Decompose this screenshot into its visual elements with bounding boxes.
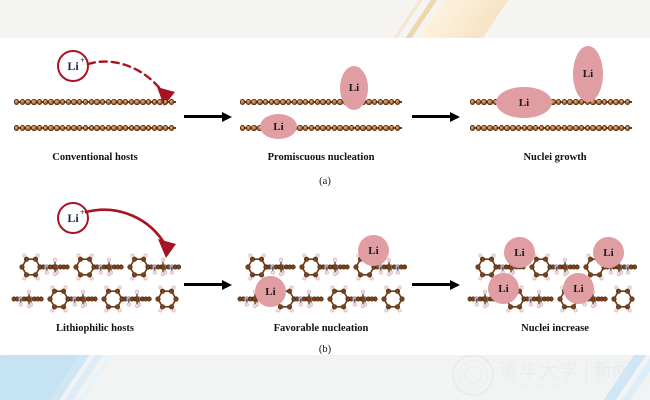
atom-H	[520, 309, 523, 312]
chain-bead	[349, 125, 354, 130]
chain-bead	[378, 99, 383, 104]
atom-C	[115, 304, 120, 309]
atom-H	[144, 277, 147, 280]
atom-C	[367, 272, 372, 277]
chain-bead	[100, 99, 105, 104]
atom-C	[61, 304, 66, 309]
chain-bead	[140, 99, 145, 104]
atom-H	[53, 272, 57, 276]
atom-C	[386, 304, 391, 309]
chain-bead	[383, 99, 388, 104]
atom-C	[313, 272, 318, 277]
atom-C	[160, 304, 165, 309]
atom-C	[135, 297, 140, 302]
atom-C	[106, 304, 111, 309]
ion-label-b: Li	[67, 211, 78, 225]
atom-C	[480, 272, 485, 277]
atom-C	[304, 257, 309, 262]
atom-C	[597, 272, 602, 277]
chain-bead	[140, 125, 145, 130]
atom-H	[53, 258, 57, 262]
chain-bead	[309, 99, 314, 104]
chain-bead	[573, 125, 578, 130]
panel-b: Li+ L	[0, 198, 650, 355]
atom-H	[483, 304, 487, 308]
chain-bead	[562, 125, 567, 130]
chain-bead	[66, 99, 71, 104]
atom-C	[603, 297, 607, 301]
atom-C	[33, 272, 38, 277]
chain-bead	[123, 99, 128, 104]
atom-C	[508, 304, 513, 309]
chain-bead	[37, 125, 42, 130]
atom-H	[107, 272, 111, 276]
atom-H	[628, 286, 631, 289]
chain-bead	[332, 125, 337, 130]
chain-bead	[263, 99, 268, 104]
atom-H	[271, 271, 274, 274]
chain-bead	[366, 125, 371, 130]
atom-H	[361, 290, 365, 294]
atom-H	[90, 254, 93, 257]
atom-H	[135, 304, 139, 308]
atom-H	[172, 309, 175, 312]
atom-C	[386, 289, 391, 294]
atom-H	[105, 309, 108, 312]
chain-bead	[94, 125, 99, 130]
atom-H	[73, 303, 76, 306]
chain-bead	[360, 125, 365, 130]
atom-C	[382, 297, 387, 302]
chain-bead	[539, 125, 544, 130]
atom-C	[395, 289, 400, 294]
atom-C	[87, 272, 92, 277]
chain-bead	[54, 99, 59, 104]
chain-bead	[134, 125, 139, 130]
chain-bead	[14, 99, 19, 104]
chain-bead	[303, 99, 308, 104]
atom-C	[332, 304, 337, 309]
host-chain-a1-bottom	[14, 124, 176, 132]
atom-C	[341, 289, 346, 294]
chain-bead	[602, 99, 607, 104]
chain-bead	[608, 99, 613, 104]
chain-bead	[297, 125, 302, 130]
atom-H	[144, 254, 147, 257]
atom-C	[24, 272, 29, 277]
atom-C	[549, 297, 553, 301]
chain-bead	[20, 125, 25, 130]
chain-bead	[134, 99, 139, 104]
chain-bead	[106, 125, 111, 130]
chain-bead	[14, 125, 19, 130]
chain-bead	[510, 125, 515, 130]
atom-H	[546, 254, 549, 257]
chain-bead	[326, 99, 331, 104]
atom-H	[507, 309, 510, 312]
chain-bead	[625, 125, 630, 130]
atom-C	[128, 265, 133, 270]
chain-bead	[163, 125, 168, 130]
atom-C	[169, 289, 174, 294]
atom-H	[290, 286, 293, 289]
chain-bead	[286, 99, 291, 104]
atom-H	[537, 304, 541, 308]
chain-bead	[337, 125, 342, 130]
chain-bead	[71, 125, 76, 130]
panel-a: Li+ Li Li	[0, 38, 650, 188]
atom-H	[561, 309, 564, 312]
atom-H	[385, 309, 388, 312]
atom-H	[159, 286, 162, 289]
chain-bead	[481, 125, 486, 130]
atom-H	[161, 272, 165, 276]
chain-bead	[280, 99, 285, 104]
atom-C	[373, 297, 377, 301]
chain-bead	[83, 99, 88, 104]
atom-H	[353, 303, 356, 306]
chain-bead	[37, 99, 42, 104]
atom-C	[537, 297, 542, 302]
atom-C	[534, 257, 539, 262]
decorative-stripes-top-right	[350, 0, 650, 40]
chain-bead	[83, 125, 88, 130]
chain-bead	[389, 99, 394, 104]
atom-H	[533, 277, 536, 280]
atom-C	[160, 289, 165, 294]
atom-H	[23, 254, 26, 257]
atom-H	[249, 254, 252, 257]
atom-H	[520, 286, 523, 289]
atom-C	[74, 265, 79, 270]
atom-C	[102, 297, 107, 302]
atom-C	[612, 297, 617, 302]
li-nucleus-a3-1: Li	[496, 87, 552, 118]
atom-C	[395, 304, 400, 309]
chain-bead	[274, 99, 279, 104]
chain-bead	[117, 99, 122, 104]
atom-H	[398, 309, 401, 312]
chain-bead	[567, 99, 572, 104]
chain-bead	[320, 99, 325, 104]
chain-bead	[383, 125, 388, 130]
chain-bead	[240, 99, 245, 104]
atom-C	[250, 257, 255, 262]
atom-H	[81, 304, 85, 308]
chain-bead	[106, 99, 111, 104]
atom-C	[132, 272, 137, 277]
atom-H	[587, 254, 590, 257]
dashed-red-arrow-a	[84, 54, 194, 116]
stage-label-b3: Nuclei increase	[460, 323, 650, 334]
chain-bead	[129, 125, 134, 130]
atom-H	[27, 290, 31, 294]
atom-C	[107, 265, 112, 270]
atom-H	[249, 277, 252, 280]
atom-C	[632, 265, 636, 269]
chain-bead	[303, 125, 308, 130]
atom-C	[591, 297, 596, 302]
atom-C	[119, 265, 123, 269]
atom-H	[479, 277, 482, 280]
atom-C	[174, 297, 179, 302]
chain-bead	[315, 99, 320, 104]
atom-H	[537, 290, 541, 294]
stage-label-a3: Nuclei growth	[460, 152, 650, 163]
atom-H	[307, 290, 311, 294]
atom-C	[87, 257, 92, 262]
atom-C	[141, 257, 146, 262]
chain-bead	[613, 125, 618, 130]
li-nucleus-b3-2: Li	[593, 237, 624, 268]
figure-card: Li+ Li Li	[0, 38, 650, 355]
atom-C	[278, 304, 283, 309]
atom-C	[543, 257, 548, 262]
chain-bead	[476, 125, 481, 130]
atom-C	[584, 265, 589, 270]
chain-bead	[43, 125, 48, 130]
atom-H	[105, 286, 108, 289]
atom-H	[303, 254, 306, 257]
atom-H	[279, 258, 283, 262]
decorative-stripes-bottom-right	[530, 348, 650, 400]
chain-bead	[246, 125, 251, 130]
li-nucleus-a3-2: Li	[573, 46, 603, 102]
chain-bead	[332, 99, 337, 104]
atom-H	[316, 277, 319, 280]
chain-bead	[251, 99, 256, 104]
chain-bead	[619, 99, 624, 104]
li-nucleus-a2-1: Li	[260, 114, 297, 139]
screenshot-canvas: 清华大学 Tsinghua University 新闻 NEWS Li+	[0, 0, 650, 400]
atom-H	[325, 271, 328, 274]
atom-H	[170, 271, 173, 274]
atom-H	[574, 309, 577, 312]
chain-bead	[163, 99, 168, 104]
li-nucleus-b2-2: Li	[358, 235, 389, 266]
atom-C	[27, 297, 32, 302]
panel-caption-b: (b)	[295, 344, 355, 355]
atom-H	[396, 271, 399, 274]
atom-H	[45, 271, 48, 274]
chain-bead	[372, 99, 377, 104]
chain-bead	[527, 125, 532, 130]
atom-H	[379, 271, 382, 274]
chain-bead	[169, 125, 174, 130]
atom-C	[147, 297, 151, 301]
chain-bead	[590, 125, 595, 130]
atom-H	[127, 303, 130, 306]
chain-bead	[269, 99, 274, 104]
chain-bead	[309, 125, 314, 130]
atom-H	[99, 271, 102, 274]
atom-H	[600, 277, 603, 280]
process-arrow-a2	[412, 112, 460, 121]
chain-bead	[545, 125, 550, 130]
chain-bead	[257, 99, 262, 104]
atom-C	[132, 257, 137, 262]
atom-H	[344, 309, 347, 312]
stage-label-a2: Promiscuous nucleation	[226, 152, 416, 163]
host-chain-a1-top	[14, 98, 176, 106]
atom-H	[615, 286, 618, 289]
atom-C	[480, 257, 485, 262]
atom-C	[575, 265, 579, 269]
atom-H	[153, 271, 156, 274]
atom-H	[36, 254, 39, 257]
chain-bead	[111, 99, 116, 104]
chain-bead	[602, 125, 607, 130]
atom-C	[48, 297, 53, 302]
chain-bead	[89, 99, 94, 104]
atom-C	[402, 265, 406, 269]
atom-C	[534, 272, 539, 277]
chain-bead	[619, 125, 624, 130]
atom-C	[307, 297, 312, 302]
atom-C	[61, 289, 66, 294]
atom-C	[33, 257, 38, 262]
chain-bead	[579, 125, 584, 130]
process-arrow-b2	[412, 280, 460, 289]
chain-bead	[240, 125, 245, 130]
stage-label-b2: Favorable nucleation	[226, 323, 416, 334]
chain-bead	[117, 125, 122, 130]
atom-C	[400, 297, 405, 302]
chain-bead	[499, 125, 504, 130]
atom-C	[319, 297, 323, 301]
atom-H	[626, 271, 629, 274]
atom-C	[304, 272, 309, 277]
atom-H	[529, 303, 532, 306]
host-chain-a2-top	[240, 98, 402, 106]
chain-bead	[550, 125, 555, 130]
cof-framework-b1	[14, 253, 184, 315]
atom-H	[316, 254, 319, 257]
atom-H	[27, 304, 31, 308]
atom-H	[107, 258, 111, 262]
chain-bead	[625, 99, 630, 104]
chain-bead	[71, 99, 76, 104]
chain-bead	[60, 99, 65, 104]
atom-H	[617, 272, 621, 276]
atom-C	[625, 304, 630, 309]
chain-bead	[585, 125, 590, 130]
atom-C	[81, 297, 86, 302]
atom-H	[279, 272, 283, 276]
atom-C	[361, 297, 366, 302]
atom-C	[387, 265, 392, 270]
atom-H	[290, 309, 293, 312]
chain-bead	[146, 99, 151, 104]
chain-bead	[152, 125, 157, 130]
atom-C	[489, 257, 494, 262]
chain-bead	[573, 99, 578, 104]
atom-H	[591, 304, 595, 308]
li-nucleus-b3-4: Li	[563, 273, 594, 304]
chain-bead	[596, 99, 601, 104]
chain-bead	[246, 99, 251, 104]
atom-H	[333, 258, 337, 262]
chain-bead	[157, 125, 162, 130]
atom-C	[617, 265, 622, 270]
atom-H	[51, 286, 54, 289]
atom-C	[571, 304, 576, 309]
atom-C	[141, 272, 146, 277]
chain-bead	[320, 125, 325, 130]
chain-bead	[476, 99, 481, 104]
atom-C	[78, 272, 83, 277]
atom-H	[387, 258, 391, 262]
atom-H	[262, 254, 265, 257]
atom-C	[476, 265, 481, 270]
atom-H	[615, 309, 618, 312]
chain-bead	[25, 99, 30, 104]
chain-bead	[596, 125, 601, 130]
chain-bead	[372, 125, 377, 130]
atom-C	[543, 272, 548, 277]
atom-C	[530, 265, 535, 270]
atom-H	[299, 303, 302, 306]
atom-H	[333, 272, 337, 276]
atom-C	[332, 289, 337, 294]
atom-H	[131, 277, 134, 280]
chain-bead	[487, 99, 492, 104]
chain-bead	[516, 125, 521, 130]
atom-H	[370, 277, 373, 280]
atom-C	[562, 304, 567, 309]
atom-C	[65, 265, 69, 269]
chain-bead	[77, 99, 82, 104]
atom-C	[176, 265, 180, 269]
atom-C	[616, 304, 621, 309]
process-arrow-a1	[184, 112, 232, 121]
chain-bead	[556, 125, 561, 130]
chain-bead	[129, 99, 134, 104]
atom-H	[492, 254, 495, 257]
atom-C	[20, 265, 25, 270]
chain-bead	[567, 125, 572, 130]
stage-label-b1: Lithiophilic hosts	[0, 323, 190, 334]
chain-bead	[470, 99, 475, 104]
chain-bead	[43, 99, 48, 104]
atom-H	[563, 258, 567, 262]
chain-bead	[613, 99, 618, 104]
chain-bead	[378, 125, 383, 130]
atom-H	[307, 304, 311, 308]
atom-C	[78, 257, 83, 262]
chain-bead	[481, 99, 486, 104]
atom-H	[475, 303, 478, 306]
chain-bead	[297, 99, 302, 104]
chain-bead	[54, 125, 59, 130]
atom-C	[345, 265, 349, 269]
chain-bead	[20, 99, 25, 104]
atom-C	[106, 289, 111, 294]
atom-H	[344, 286, 347, 289]
host-chain-a3-bottom	[470, 124, 632, 132]
chain-bead	[522, 125, 527, 130]
panel-caption-a: (a)	[295, 176, 355, 187]
atom-H	[583, 303, 586, 306]
atom-C	[156, 297, 161, 302]
atom-C	[588, 257, 593, 262]
atom-C	[328, 297, 333, 302]
process-arrow-b1	[184, 280, 232, 289]
chain-bead	[355, 125, 360, 130]
chain-bead	[94, 99, 99, 104]
chain-bead	[169, 99, 174, 104]
atom-C	[246, 265, 251, 270]
